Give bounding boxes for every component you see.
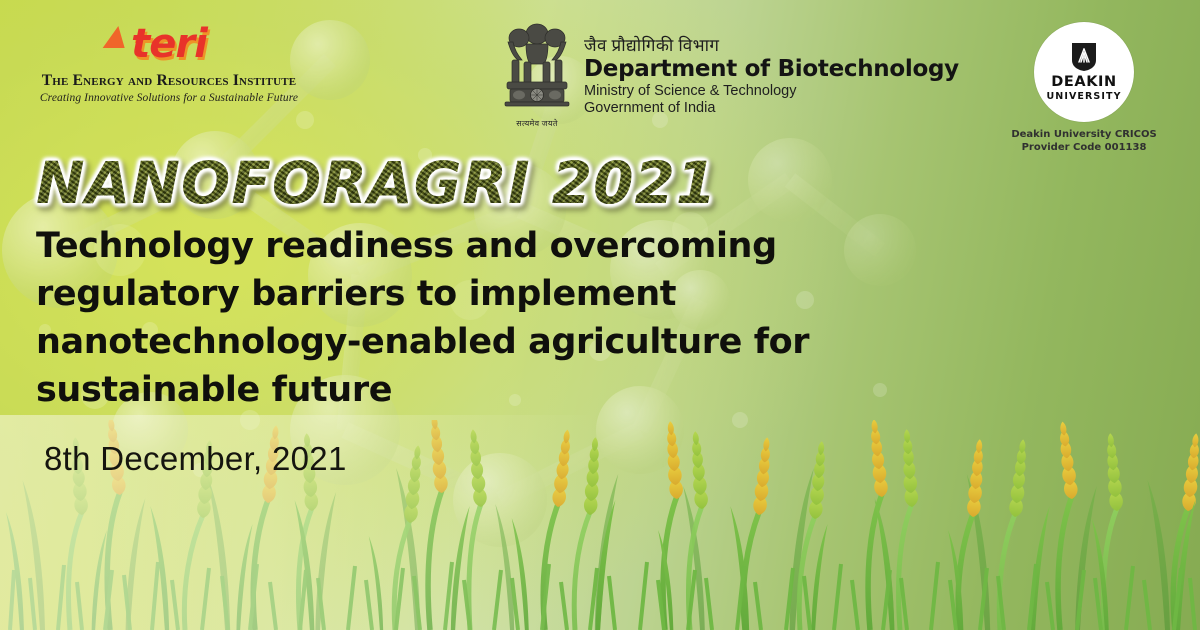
dbt-text-block: जैव प्रौद्योगिकी विभाग Department of Bio… (584, 20, 959, 117)
event-banner: teri The Energy and Resources Institute … (0, 0, 1200, 630)
dbt-title: Department of Biotechnology (584, 56, 959, 83)
deakin-name: DEAKIN (1051, 75, 1117, 90)
dbt-logo: सत्यमेव जयते जैव प्रौद्योगिकी विभाग Depa… (500, 20, 959, 129)
event-date: 8th December, 2021 (44, 440, 1036, 478)
teri-logo: teri The Energy and Resources Institute … (36, 22, 302, 104)
teri-tagline: Creating Innovative Solutions for a Sust… (36, 92, 302, 104)
ashoka-emblem-icon (500, 20, 574, 112)
event-title: NANOFORAGRI 2021 (36, 150, 717, 216)
teri-arrow-icon (103, 26, 130, 48)
ashoka-lion-capital-emblem: सत्यमेव जयते (500, 20, 574, 129)
deakin-shield-icon (1071, 42, 1097, 72)
teri-wordmark: teri (36, 22, 302, 70)
deakin-logo: DEAKIN UNIVERSITY Deakin University CRIC… (1008, 22, 1160, 154)
logo-row: teri The Energy and Resources Institute … (0, 0, 1200, 150)
dbt-ministry: Ministry of Science & Technology (584, 83, 959, 100)
teri-wordmark-text: teri (131, 22, 207, 66)
event-subtitle: Technology readiness and overcoming regu… (36, 222, 956, 414)
deakin-subname: UNIVERSITY (1046, 90, 1121, 103)
emblem-motto: सत्यमेव जयते (500, 118, 574, 129)
dbt-hindi-title: जैव प्रौद्योगिकी विभाग (584, 36, 959, 56)
deakin-cricos-line1: Deakin University CRICOS (1008, 128, 1160, 141)
deakin-logo-circle: DEAKIN UNIVERSITY (1034, 22, 1134, 122)
headline-block: NANOFORAGRI 2021 Technology readiness an… (36, 150, 1036, 478)
dbt-government: Government of India (584, 100, 959, 117)
teri-institute-name: The Energy and Resources Institute (36, 72, 302, 90)
